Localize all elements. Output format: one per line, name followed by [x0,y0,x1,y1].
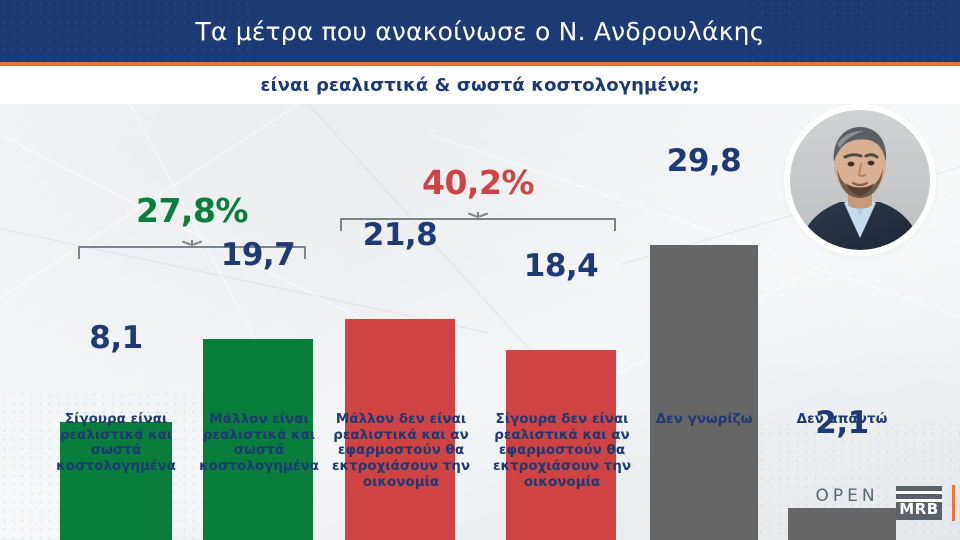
category-label-4: Σίγουρα δεν είναι ρεαλιστικά και αν εφαρ… [486,412,638,490]
category-label-2: Μάλλον είναι ρεαλιστικά και σωστά κοστολ… [183,412,335,475]
open-logo-text: OPEN [806,488,888,505]
subtitle-band: είναι ρεαλιστικά & σωστά κοστολογημένα; [0,66,960,104]
category-label-1: Σίγουρα είναι ρεαλιστικά και σωστά κοστο… [36,412,196,475]
page-subtitle: είναι ρεαλιστικά & σωστά κοστολογημένα; [260,75,699,96]
open-beyond-logo: OPEN BEYOND [806,488,888,517]
category-label-5: Δεν γνωρίζω [644,412,764,428]
group-total-negative: 40,2% [340,166,616,199]
bar-value-2: 19,7 [203,240,313,271]
page-title: Τα μέτρα που ανακοίνωσε ο Ν. Ανδρουλάκης [0,0,960,62]
avatar-photo [790,110,930,250]
category-label-3: Μάλλον δεν είναι ρεαλιστικά και αν εφαρμ… [328,412,474,490]
category-label-6: Δεν απαντώ [784,412,900,428]
mrb-logo: MRB [896,486,942,520]
avatar [790,110,930,250]
beyond-logo-text: BEYOND [806,509,888,517]
mrb-logo-text: MRB [896,502,942,520]
bar-5 [650,245,758,540]
group-total-positive: 27,8% [78,194,306,227]
bar-value-4: 18,4 [506,251,616,282]
chart-canvas: 27,8% 40,2% 8,1 19,7 21,8 18,4 [0,104,960,540]
bar-value-1: 8,1 [60,323,172,354]
logo-accent-rule [952,485,955,521]
bar-value-3: 21,8 [345,220,455,251]
poll-graphic: Τα μέτρα που ανακοίνωσε ο Ν. Ανδρουλάκης… [0,0,960,540]
bar-value-5: 29,8 [650,146,758,177]
